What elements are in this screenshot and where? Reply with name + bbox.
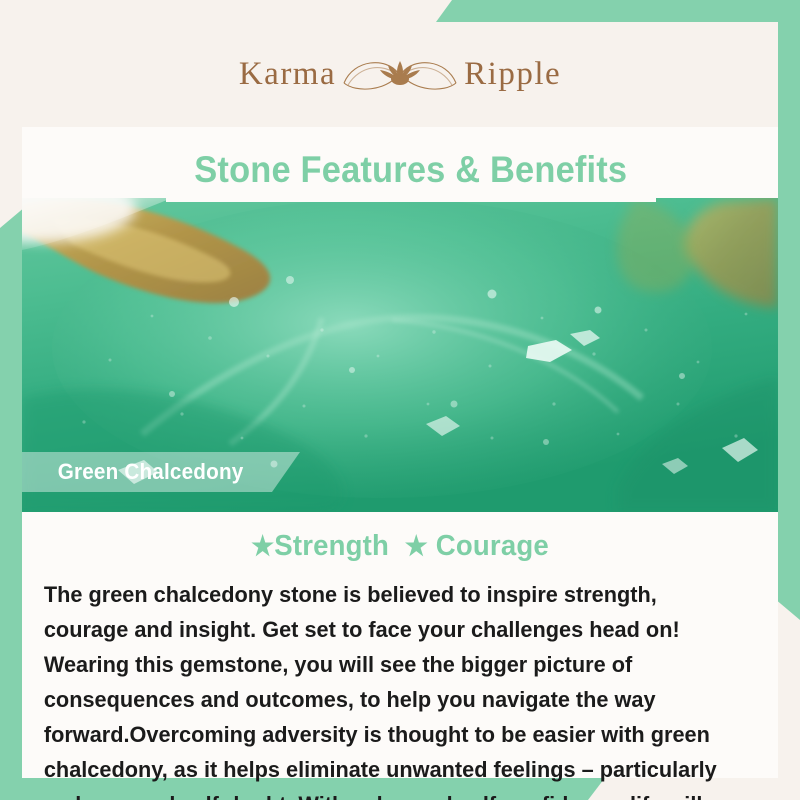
keyword-row: ★Strength ★ Courage xyxy=(58,530,742,563)
star-icon-strength: ★ xyxy=(251,533,274,560)
title-banner: Stone Features & Benefits xyxy=(166,138,656,202)
body-paragraph: The green chalcedony stone is believed t… xyxy=(40,577,735,800)
lotus-infinity-icon xyxy=(340,49,460,101)
brand-name-right: Ripple xyxy=(464,56,561,93)
poster-canvas: Karma xyxy=(0,0,800,800)
photo-caption-text: Green Chalcedony xyxy=(22,459,243,485)
brand-lockup: Karma xyxy=(239,49,561,101)
brand-header: Karma xyxy=(22,22,778,127)
keyword-courage: Courage xyxy=(436,530,549,563)
star-icon-courage: ★ xyxy=(405,533,428,560)
body-section: ★Strength ★ Courage The green chalcedony… xyxy=(22,512,778,778)
page-title: Stone Features & Benefits xyxy=(195,149,628,191)
brand-name-left: Karma xyxy=(239,56,336,93)
content-card: Karma xyxy=(22,22,778,778)
photo-caption-band: Green Chalcedony xyxy=(22,452,300,492)
keyword-strength: Strength xyxy=(274,530,389,563)
